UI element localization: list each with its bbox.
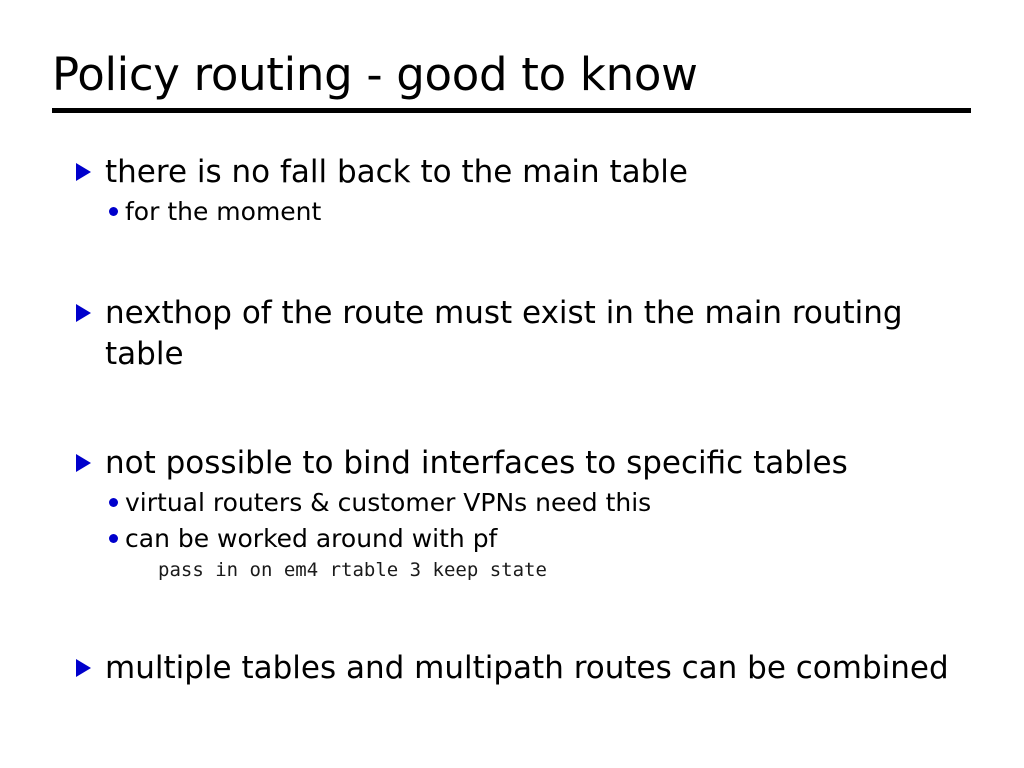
- slide: Policy routing - good to know there is n…: [0, 0, 1024, 768]
- bullet-level2-text: for the moment: [125, 197, 321, 226]
- bullet-group: not possible to bind interfaces to speci…: [0, 443, 1024, 584]
- title-underline-rule: [52, 108, 971, 113]
- bullet-group: nexthop of the route must exist in the m…: [0, 293, 1024, 375]
- slide-body: there is no fall back to the main table …: [0, 152, 1024, 689]
- page-title: Policy routing - good to know: [52, 48, 972, 102]
- bullet-level1-text: not possible to bind interfaces to speci…: [105, 445, 848, 481]
- bullet-level1: multiple tables and multipath routes can…: [0, 648, 1024, 689]
- bullet-group: there is no fall back to the main table …: [0, 152, 1024, 229]
- group-spacer: [0, 251, 1024, 293]
- bullet-level1-text: nexthop of the route must exist in the m…: [105, 295, 903, 372]
- bullet-level2: can be worked around with pf: [0, 522, 1024, 556]
- triangle-right-icon: [76, 163, 91, 181]
- title-block: Policy routing - good to know: [52, 48, 972, 113]
- code-snippet: pass in on em4 rtable 3 keep state: [0, 557, 1024, 584]
- bullet-level2-text: virtual routers & customer VPNs need thi…: [125, 488, 651, 517]
- round-dot-icon: [109, 207, 118, 216]
- bullet-level1-text: there is no fall back to the main table: [105, 154, 688, 190]
- bullet-level1: there is no fall back to the main table: [0, 152, 1024, 193]
- bullet-level2: virtual routers & customer VPNs need thi…: [0, 486, 1024, 520]
- bullet-level1: nexthop of the route must exist in the m…: [0, 293, 1024, 375]
- round-dot-icon: [109, 534, 118, 543]
- bullet-group: multiple tables and multipath routes can…: [0, 648, 1024, 689]
- group-spacer: [0, 397, 1024, 443]
- bullet-level1: not possible to bind interfaces to speci…: [0, 443, 1024, 484]
- group-spacer: [0, 606, 1024, 648]
- triangle-right-icon: [76, 304, 91, 322]
- bullet-level2-text: can be worked around with pf: [125, 524, 497, 553]
- triangle-right-icon: [76, 454, 91, 472]
- triangle-right-icon: [76, 659, 91, 677]
- round-dot-icon: [109, 498, 118, 507]
- bullet-level2: for the moment: [0, 195, 1024, 229]
- bullet-level1-text: multiple tables and multipath routes can…: [105, 650, 949, 686]
